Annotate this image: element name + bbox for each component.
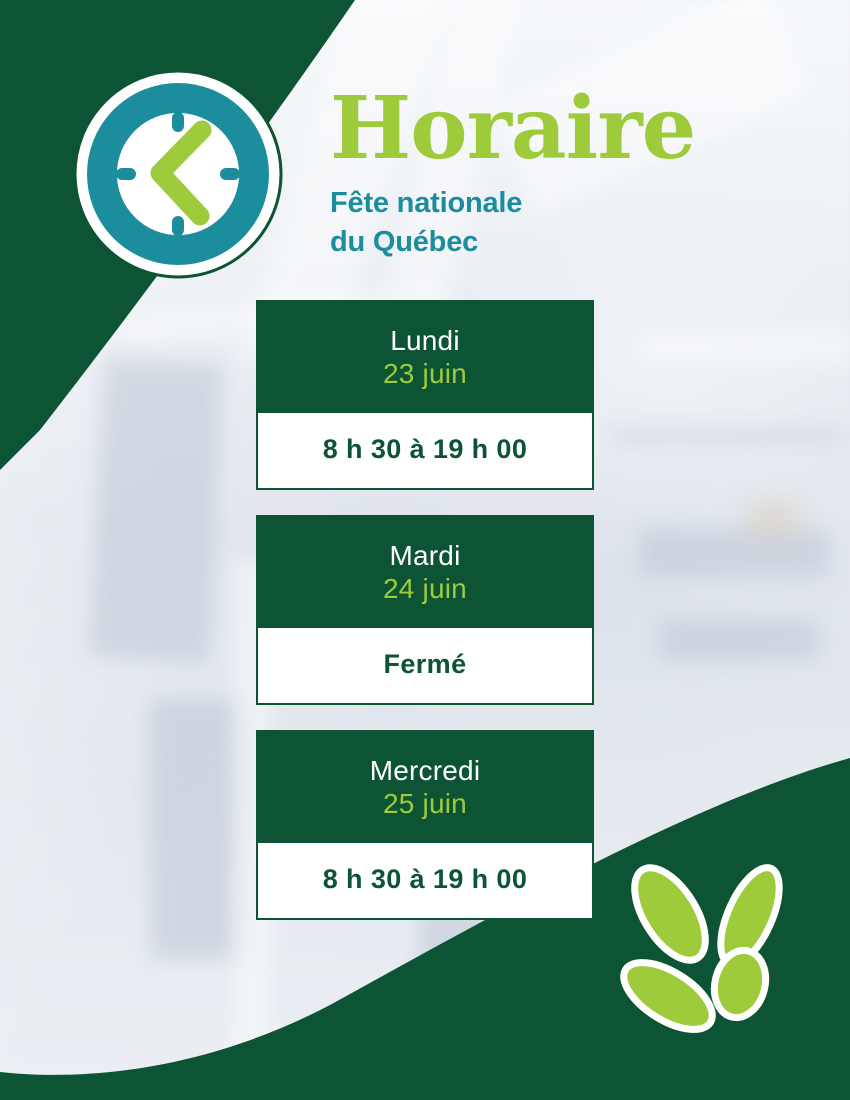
schedule-card-header: Mardi 24 juin	[256, 515, 594, 628]
schedule-card-monday: Lundi 23 juin 8 h 30 à 19 h 00	[256, 300, 594, 490]
schedule-card-tuesday: Mardi 24 juin Fermé	[256, 515, 594, 705]
schedule-card-body: 8 h 30 à 19 h 00	[256, 413, 594, 490]
page-title: Horaire	[330, 88, 750, 170]
clock-logo	[72, 68, 284, 280]
schedule-hours-label: Fermé	[266, 650, 584, 680]
butterfly-petal-bottom-left	[613, 949, 723, 1043]
schedule-card-header: Mercredi 25 juin	[256, 730, 594, 843]
schedule-day-label: Lundi	[266, 324, 584, 357]
schedule-day-label: Mardi	[266, 539, 584, 572]
butterfly-petal-bottom-right	[708, 945, 773, 1023]
butterfly-icon	[612, 858, 808, 1054]
schedule-date-label: 25 juin	[266, 787, 584, 821]
schedule-hours-label: 8 h 30 à 19 h 00	[266, 865, 584, 895]
schedule-date-label: 24 juin	[266, 572, 584, 606]
schedule-card-body: 8 h 30 à 19 h 00	[256, 843, 594, 920]
heading-block: Horaire Fête nationale du Québec	[330, 88, 750, 262]
poster-canvas: Horaire Fête nationale du Québec Lundi 2…	[0, 0, 850, 1100]
schedule-card-header: Lundi 23 juin	[256, 300, 594, 413]
subtitle-line-2: du Québec	[330, 223, 750, 262]
butterfly-petal-top-left	[620, 858, 719, 972]
schedule-card-list: Lundi 23 juin 8 h 30 à 19 h 00 Mardi 24 …	[256, 300, 594, 920]
schedule-day-label: Mercredi	[266, 754, 584, 787]
schedule-date-label: 23 juin	[266, 357, 584, 391]
schedule-hours-label: 8 h 30 à 19 h 00	[266, 435, 584, 465]
schedule-card-body: Fermé	[256, 628, 594, 705]
subtitle-line-1: Fête nationale	[330, 184, 750, 223]
page-subtitle: Fête nationale du Québec	[330, 184, 750, 262]
schedule-card-wednesday: Mercredi 25 juin 8 h 30 à 19 h 00	[256, 730, 594, 920]
